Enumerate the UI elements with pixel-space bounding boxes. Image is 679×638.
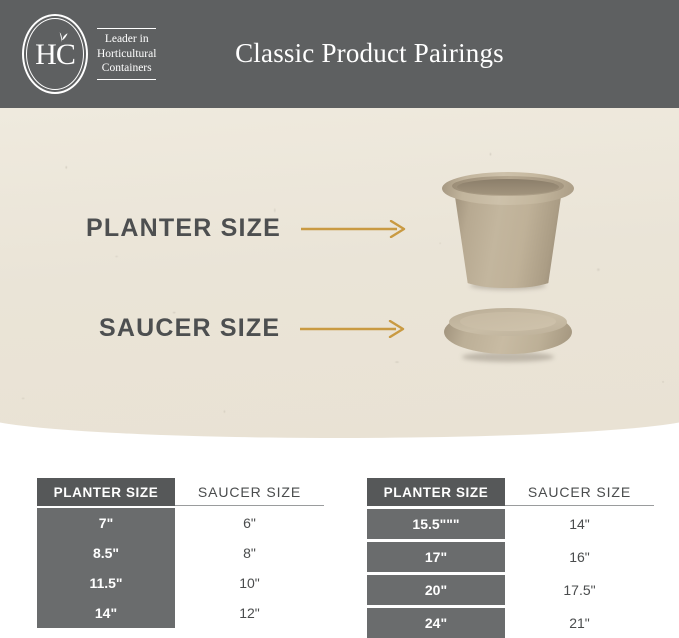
cell-saucer-size: 8" bbox=[175, 538, 324, 568]
size-table-large: PLANTER SIZE SAUCER SIZE 15.5""" 14" 17"… bbox=[367, 478, 654, 638]
column-header-saucer-size: SAUCER SIZE bbox=[175, 478, 324, 506]
cell-planter-size: 24" bbox=[367, 608, 505, 638]
cell-saucer-size: 14" bbox=[505, 509, 654, 539]
table-row: 15.5""" 14" bbox=[367, 509, 654, 539]
table-row: 11.5" 10" bbox=[37, 568, 324, 598]
hero-section: PLANTER SIZE SAUCER SIZE bbox=[0, 108, 679, 438]
table-row: 20" 17.5" bbox=[367, 575, 654, 605]
saucer-dish-image bbox=[440, 306, 576, 362]
table-header-row: PLANTER SIZE SAUCER SIZE bbox=[367, 478, 654, 506]
planter-pot-image bbox=[442, 166, 574, 288]
size-table-small: PLANTER SIZE SAUCER SIZE 7" 6" 8.5" 8" 1… bbox=[37, 478, 324, 628]
cell-saucer-size: 12" bbox=[175, 598, 324, 628]
table-row: 24" 21" bbox=[367, 608, 654, 638]
table-body: 15.5""" 14" 17" 16" 20" 17.5" 24" 21" bbox=[367, 509, 654, 638]
table-row: 17" 16" bbox=[367, 542, 654, 572]
hero-label-planter-size: PLANTER SIZE bbox=[86, 214, 281, 243]
header-bar: HC Leader in Horticultural Containers Cl… bbox=[0, 0, 679, 108]
cell-saucer-size: 16" bbox=[505, 542, 654, 572]
column-header-saucer-size: SAUCER SIZE bbox=[505, 478, 654, 506]
table-row: 7" 6" bbox=[37, 508, 324, 538]
cell-planter-size: 17" bbox=[367, 542, 505, 572]
arrow-right-icon bbox=[298, 320, 408, 338]
column-header-planter-size: PLANTER SIZE bbox=[37, 478, 175, 506]
table-row: 14" 12" bbox=[37, 598, 324, 628]
cell-planter-size: 8.5" bbox=[37, 538, 175, 568]
cell-planter-size: 14" bbox=[37, 598, 175, 628]
cell-planter-size: 11.5" bbox=[37, 568, 175, 598]
hero-row-saucer: SAUCER SIZE bbox=[99, 314, 408, 343]
page-title: Classic Product Pairings bbox=[0, 38, 679, 69]
table-body: 7" 6" 8.5" 8" 11.5" 10" 14" 12" bbox=[37, 506, 324, 628]
column-header-planter-size: PLANTER SIZE bbox=[367, 478, 505, 506]
hero-label-saucer-size: SAUCER SIZE bbox=[99, 314, 280, 343]
hero-background-texture bbox=[0, 108, 679, 438]
cell-saucer-size: 6" bbox=[175, 508, 324, 538]
cell-planter-size: 15.5""" bbox=[367, 509, 505, 539]
cell-saucer-size: 17.5" bbox=[505, 575, 654, 605]
table-row: 8.5" 8" bbox=[37, 538, 324, 568]
saucer-well-inner bbox=[460, 312, 556, 331]
planter-opening bbox=[457, 179, 559, 195]
arrow-right-icon bbox=[299, 220, 409, 238]
cell-saucer-size: 21" bbox=[505, 608, 654, 638]
cell-planter-size: 7" bbox=[37, 508, 175, 538]
hero-row-planter: PLANTER SIZE bbox=[86, 214, 409, 243]
cell-saucer-size: 10" bbox=[175, 568, 324, 598]
table-header-row: PLANTER SIZE SAUCER SIZE bbox=[37, 478, 324, 506]
cell-planter-size: 20" bbox=[367, 575, 505, 605]
